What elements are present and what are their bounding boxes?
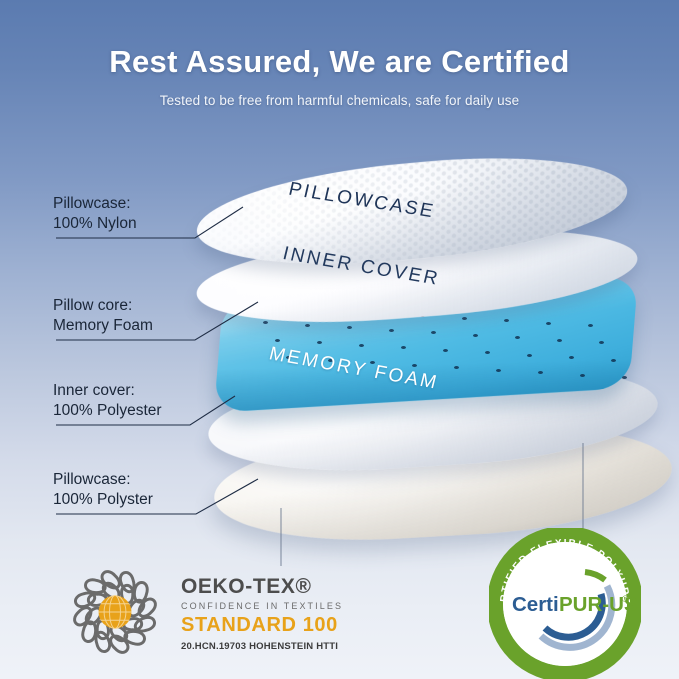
- oeko-tex-text-block: OEKO-TEX® CONFIDENCE IN TEXTILES STANDAR…: [181, 573, 343, 652]
- oeko-tex-badge: OEKO-TEX® CONFIDENCE IN TEXTILES STANDAR…: [63, 560, 343, 664]
- callout-pillowcase-polyster: Pillowcase: 100% Polyster: [53, 470, 153, 510]
- oeko-tex-logo-icon: [63, 560, 167, 664]
- product-infographic: Rest Assured, We are Certified Tested to…: [0, 0, 679, 679]
- certipur-wordmark: Certi PUR-US ®: [512, 593, 638, 616]
- certipur-us-badge: CONTAINS CERTIFIED FLEXIBLE POLYURETHANE…: [489, 528, 641, 679]
- callout-text: Pillowcase: 100% Polyster: [53, 470, 153, 510]
- callout-text: Inner cover: 100% Polyester: [53, 381, 162, 421]
- certipur-registered-mark: ®: [622, 594, 629, 604]
- oeko-tex-certificate-code: 20.HCN.19703 HOHENSTEIN HTTI: [181, 641, 343, 652]
- oeko-tex-subtitle: CONFIDENCE IN TEXTILES: [181, 601, 343, 611]
- callout-pillow-core-memory-foam: Pillow core: Memory Foam: [53, 296, 153, 336]
- callout-pillowcase-nylon: Pillowcase: 100% Nylon: [53, 194, 137, 234]
- callout-inner-cover-polyester: Inner cover: 100% Polyester: [53, 381, 162, 421]
- certipur-wordmark-first: Certi: [512, 593, 559, 616]
- oeko-tex-standard: STANDARD 100: [181, 614, 343, 637]
- callout-text: Pillowcase: 100% Nylon: [53, 194, 137, 234]
- callout-text: Pillow core: Memory Foam: [53, 296, 153, 336]
- oeko-tex-title: OEKO-TEX®: [181, 575, 343, 599]
